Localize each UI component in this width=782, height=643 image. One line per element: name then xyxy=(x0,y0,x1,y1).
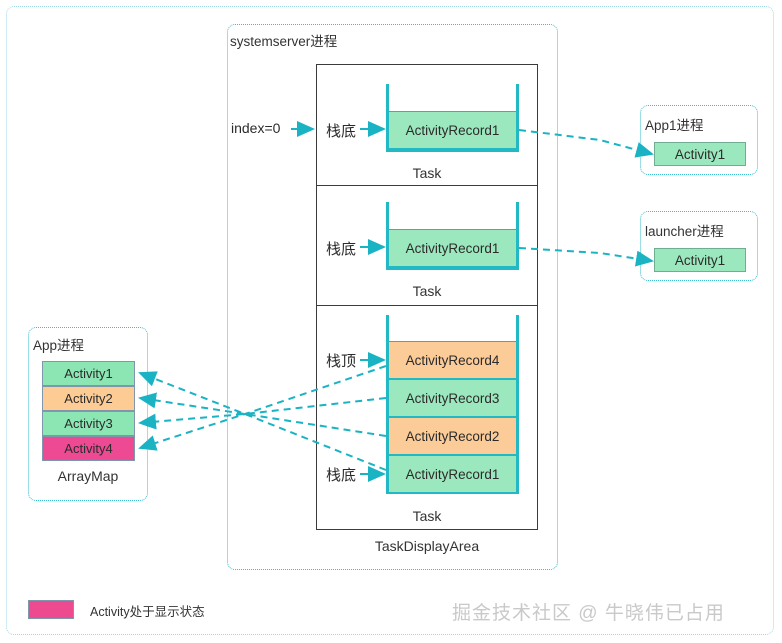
arraymap-item-4[interactable]: Activity4 xyxy=(42,436,135,461)
diagram-canvas: systemserver进程 TaskDisplayArea ActivityR… xyxy=(0,0,782,643)
app1-activity-box[interactable]: Activity1 xyxy=(654,142,746,166)
task3-record-2[interactable]: ActivityRecord2 xyxy=(388,417,517,455)
task2-caption: Task xyxy=(316,283,538,299)
launcher-activity-box[interactable]: Activity1 xyxy=(654,248,746,272)
arraymap-caption: ArrayMap xyxy=(28,468,148,484)
task1-bottom-pointer-label: 栈底 xyxy=(326,120,356,141)
task2-bottom-pointer-label: 栈底 xyxy=(326,238,356,259)
task1-record-1[interactable]: ActivityRecord1 xyxy=(388,111,517,149)
legend-text: Activity处于显示状态 xyxy=(90,601,205,620)
arraymap-item-1[interactable]: Activity1 xyxy=(42,361,135,386)
task-divider-2 xyxy=(316,305,538,306)
app-process-title: App进程 xyxy=(33,334,84,354)
arraymap-item-2[interactable]: Activity2 xyxy=(42,386,135,411)
task3-record-3[interactable]: ActivityRecord3 xyxy=(388,379,517,417)
app1-process-title: App1进程 xyxy=(645,114,704,134)
task-divider-1 xyxy=(316,185,538,186)
index-label: index=0 xyxy=(231,120,280,136)
task-display-area-caption: TaskDisplayArea xyxy=(316,538,538,554)
arraymap-item-3[interactable]: Activity3 xyxy=(42,411,135,436)
task1-caption: Task xyxy=(316,165,538,181)
legend-color-swatch xyxy=(28,600,74,619)
task3-bottom-pointer-label: 栈底 xyxy=(326,464,356,485)
task3-caption: Task xyxy=(316,508,538,524)
watermark-text: 掘金技术社区 @ 牛晓伟已占用 xyxy=(452,598,725,625)
task3-top-pointer-label: 栈顶 xyxy=(326,350,356,371)
task3-record-4[interactable]: ActivityRecord4 xyxy=(388,341,517,379)
systemserver-process-title: systemserver进程 xyxy=(230,30,337,50)
task3-record-1[interactable]: ActivityRecord1 xyxy=(388,455,517,493)
task2-record-1[interactable]: ActivityRecord1 xyxy=(388,229,517,267)
launcher-process-title: launcher进程 xyxy=(645,220,724,240)
